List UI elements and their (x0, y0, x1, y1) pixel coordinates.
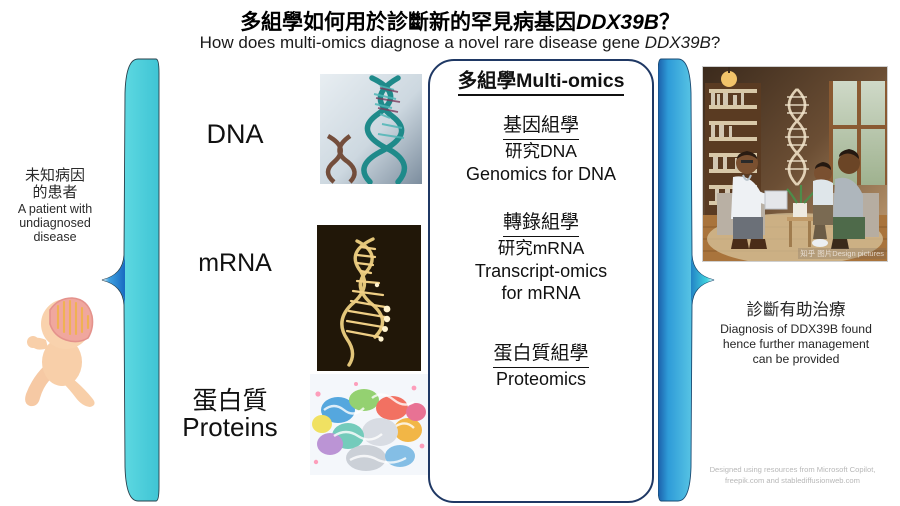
omics-label-mrna: mRNA (155, 250, 315, 276)
omics-block-genomics: 基因組學 研究DNA Genomics for DNA (436, 114, 646, 185)
genomics-zh-heading: 基因組學 (503, 114, 579, 140)
left-caption-en-line3: disease (2, 230, 108, 244)
right-caption-en-line3: can be provided (696, 352, 896, 367)
page-title-english-qmark: ? (711, 33, 720, 52)
multi-omics-card: 多組學Multi-omics 基因組學 研究DNA Genomics for D… (428, 59, 654, 503)
left-caption-en-line2: undiagnosed (2, 216, 108, 230)
left-caption-en-line1: A patient with (2, 202, 108, 216)
omics-label-proteins: 蛋白質 Proteins (150, 388, 310, 442)
credits-line2: freepik.com and stablediffusionweb.com (690, 475, 895, 486)
page-title-chinese-qmark: ？ (659, 11, 680, 34)
page-title-english-text: How does multi-omics diagnose a novel ra… (200, 33, 645, 52)
page-title-english: How does multi-omics diagnose a novel ra… (130, 33, 790, 53)
transcript-omics-en-sub-line2: for mRNA (436, 283, 646, 304)
left-caption-zh-line2: 的患者 (2, 185, 108, 202)
genomics-en-sub: Genomics for DNA (436, 164, 646, 185)
right-caption-en-line1: Diagnosis of DDX39B found (696, 322, 896, 337)
omics-block-proteomics: 蛋白質組學 Proteomics (436, 342, 646, 390)
page-title-english-gene: DDX39B (645, 33, 711, 52)
transcript-omics-zh-heading: 轉錄組學 (503, 211, 579, 237)
genomics-zh-sub: 研究DNA (436, 141, 646, 163)
right-caption-zh: 診斷有助治療 (696, 300, 896, 320)
mrna-single-helix-gold-image (317, 225, 421, 371)
transcript-omics-zh-sub: 研究mRNA (436, 238, 646, 260)
slide-canvas: 多組學如何用於診斷新的罕見病基因DDX39B？ How does multi-o… (0, 0, 900, 506)
protein-ribbon-structure-image (310, 374, 428, 475)
omics-label-proteins-en: Proteins (150, 414, 310, 441)
omics-label-dna: DNA (155, 120, 315, 148)
left-caption: 未知病因 的患者 A patient with undiagnosed dise… (2, 168, 108, 244)
baby-with-brain-icon (14, 278, 106, 410)
proteomics-en-sub: Proteomics (436, 369, 646, 390)
credits-note: Designed using resources from Microsoft … (690, 464, 895, 486)
omics-label-proteins-zh: 蛋白質 (150, 388, 310, 414)
page-title-chinese-gene: DDX39B (576, 11, 659, 34)
right-caption-en-line2: hence further management (696, 337, 896, 352)
page-title-chinese: 多組學如何用於診斷新的罕見病基因DDX39B？ (150, 6, 770, 36)
proteomics-zh-heading: 蛋白質組學 (493, 342, 588, 368)
multi-omics-card-title: 多組學Multi-omics (458, 69, 625, 96)
dna-double-helix-teal-image (320, 74, 422, 184)
transcript-omics-en-sub-line1: Transcript-omics (436, 261, 646, 282)
left-caption-zh-line1: 未知病因 (2, 168, 108, 185)
omics-block-transcript-omics: 轉錄組學 研究mRNA Transcript-omics for mRNA (436, 211, 646, 304)
photo-watermark: 知乎 图片Design pictures (798, 248, 886, 259)
credits-line1: Designed using resources from Microsoft … (690, 464, 895, 475)
right-caption: 診斷有助治療 Diagnosis of DDX39B found hence f… (696, 300, 896, 367)
doctor-consulting-family-with-dna-helix-image: 知乎 图片Design pictures (702, 66, 888, 262)
page-title-chinese-text: 多組學如何用於診斷新的罕見病基因 (240, 11, 576, 34)
